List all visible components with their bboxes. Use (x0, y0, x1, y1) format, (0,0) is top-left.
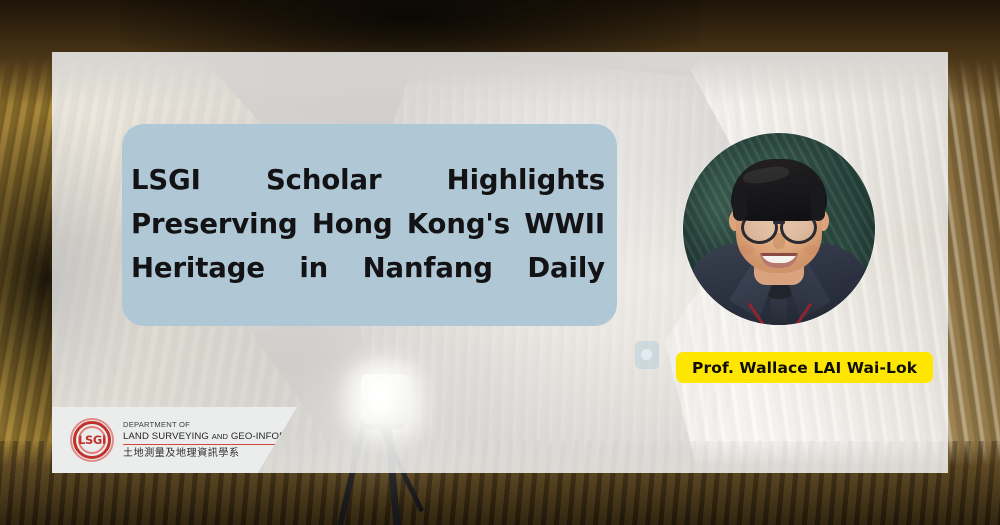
department-rule (123, 444, 275, 445)
portrait-sideburn-left (733, 185, 747, 221)
logo-mark-text: LSGI (70, 418, 114, 462)
department-line-2b: AND (212, 432, 228, 441)
title-card: LSGI Scholar Highlights Preserving Hong … (122, 124, 617, 326)
portrait-sideburn-right (811, 185, 825, 221)
status-badge: Prof. Wallace LAI Wai-Lok (676, 352, 933, 383)
department-logo-bar: LSGI DEPARTMENT OF LAND SURVEYING AND GE… (52, 407, 297, 473)
lsgi-logo-icon: LSGI (70, 418, 114, 462)
glasses-bridge-icon (773, 221, 785, 224)
banner-image: LSGI Scholar Highlights Preserving Hong … (0, 0, 1000, 525)
department-line-2a: LAND SURVEYING (123, 431, 212, 442)
portrait-cheek-left (739, 245, 755, 255)
avatar (683, 133, 875, 325)
page-title: LSGI Scholar Highlights Preserving Hong … (131, 158, 605, 334)
watermark-icon (635, 341, 659, 369)
portrait-cheek-right (803, 245, 819, 255)
